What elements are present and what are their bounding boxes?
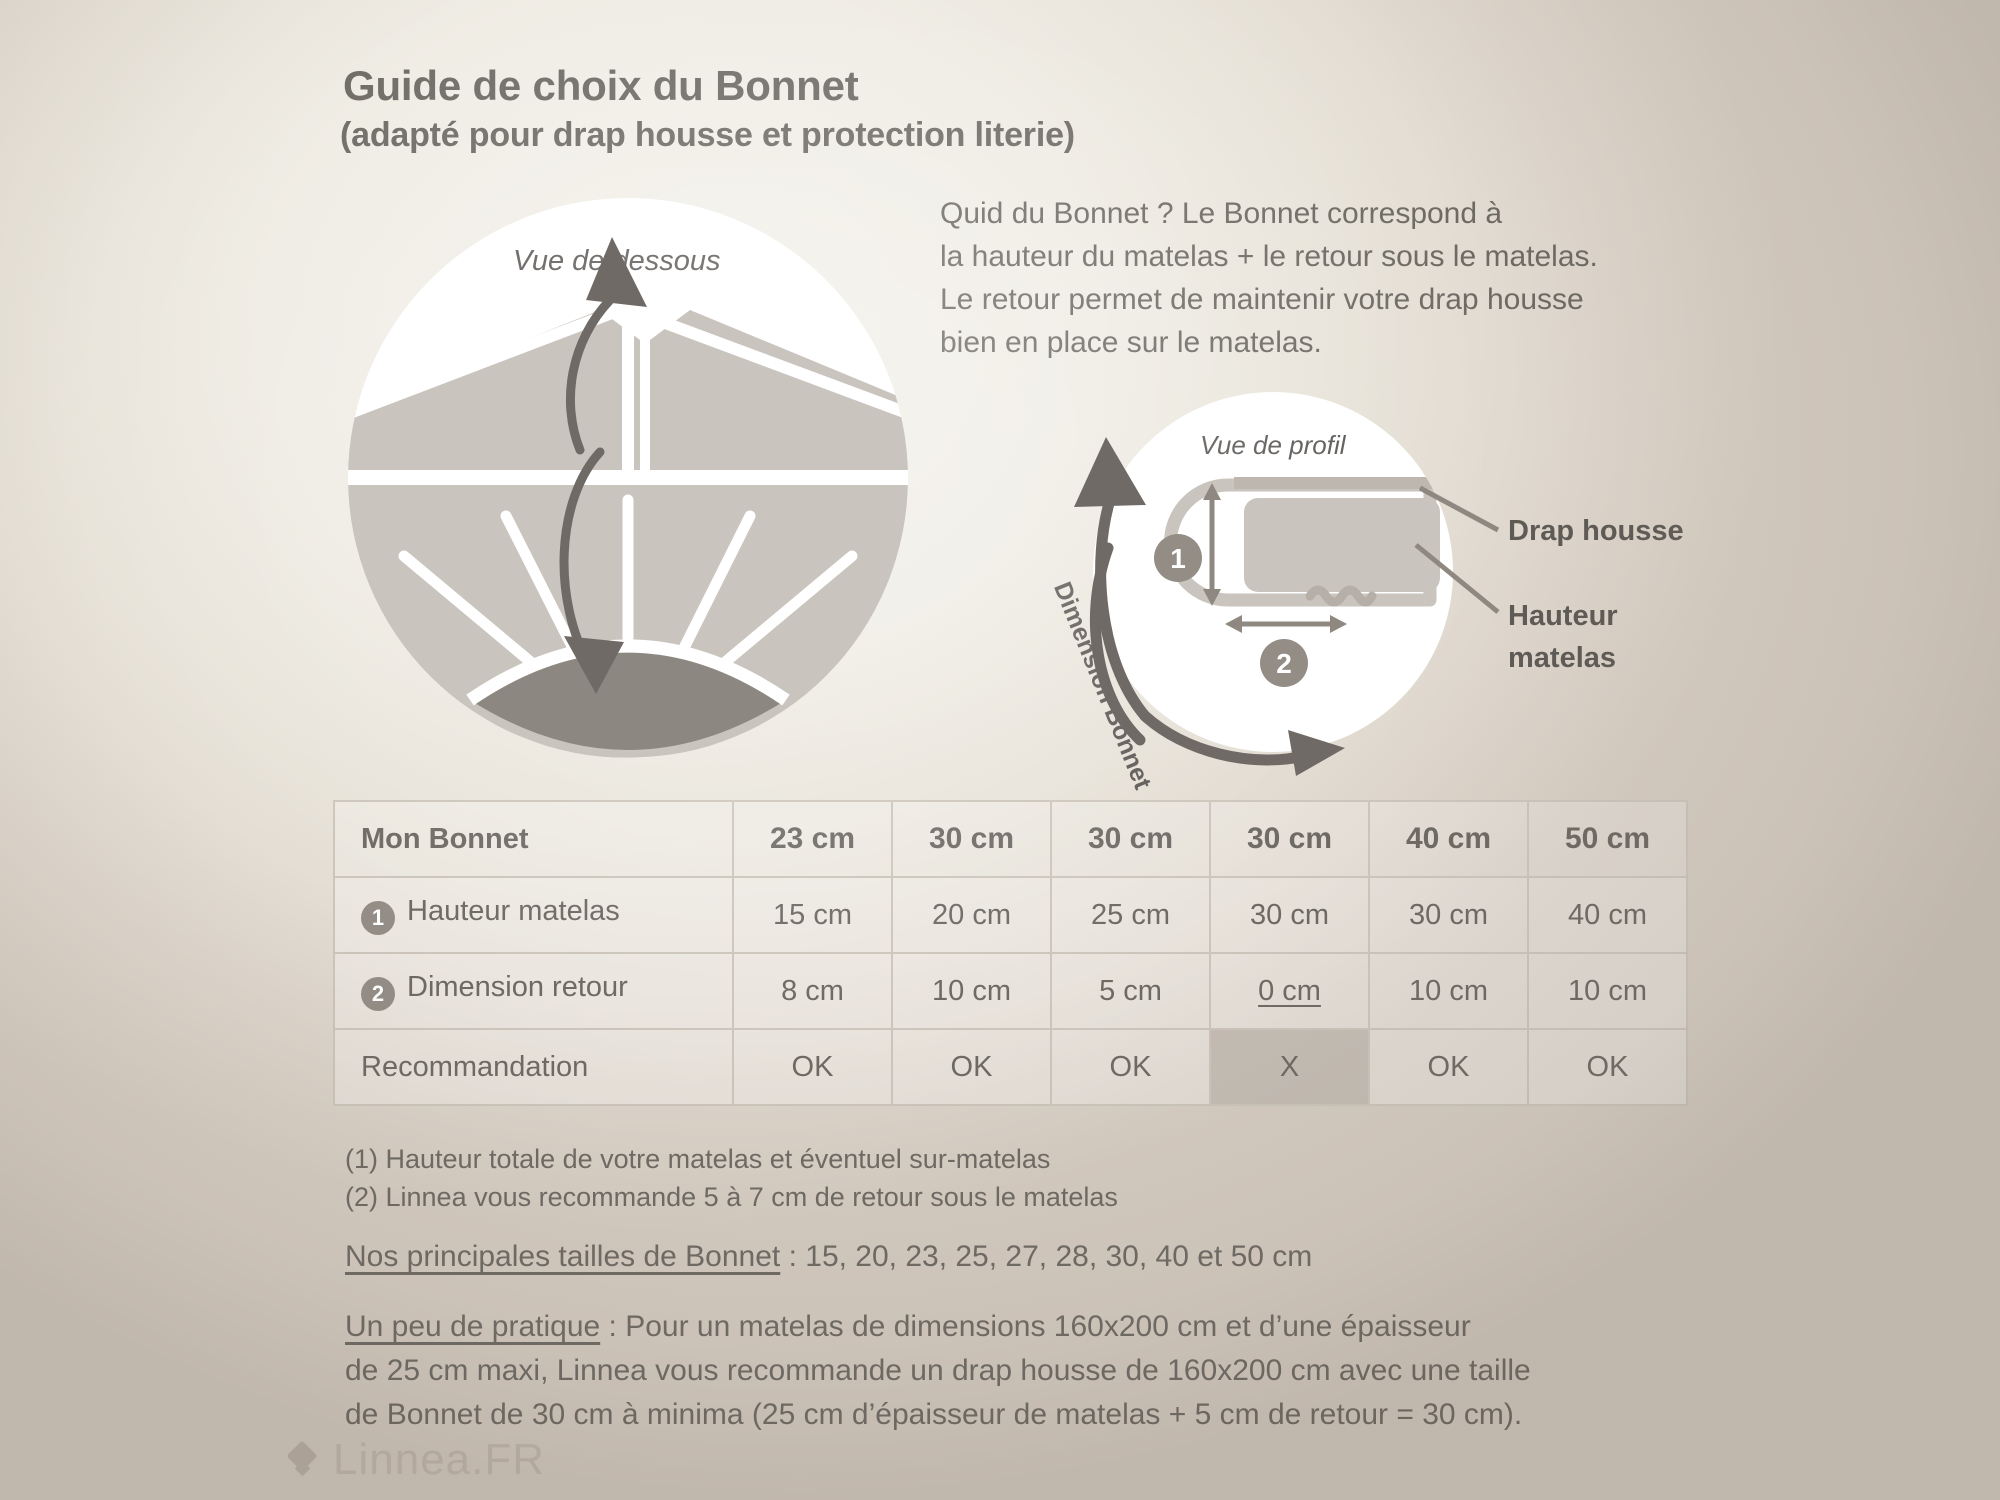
bottom-view-art xyxy=(300,308,980,758)
svg-text:2: 2 xyxy=(1276,648,1292,679)
profile-badge-1: 1 xyxy=(1154,534,1202,582)
profile-badge-2: 2 xyxy=(1260,639,1308,687)
infographic-poster: 1 2 Guide de choix du Bonnet (adapté pou… xyxy=(0,0,2000,1500)
diagram-artwork: 1 2 xyxy=(0,0,2000,1500)
svg-text:1: 1 xyxy=(1170,543,1186,574)
profile-view-art xyxy=(1171,483,1440,633)
